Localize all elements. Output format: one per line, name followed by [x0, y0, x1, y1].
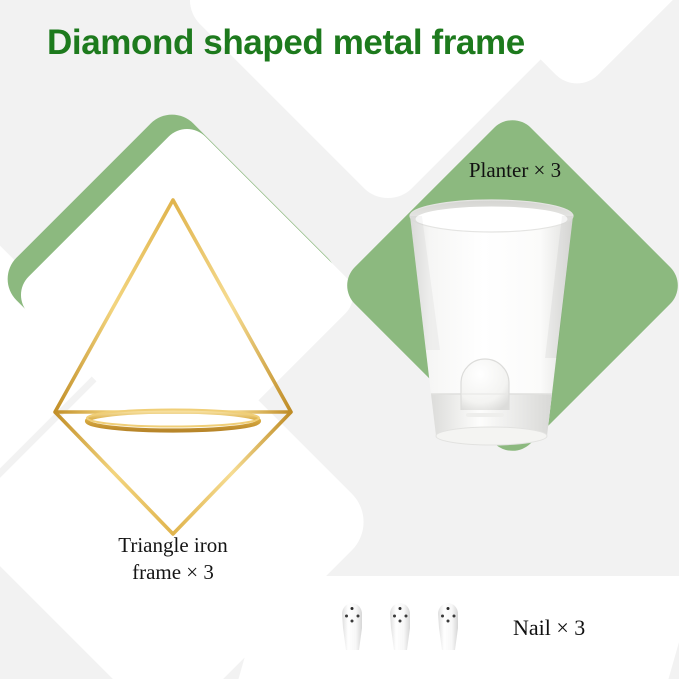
product-feature-image: Diamond shaped metal frame Tri [0, 0, 679, 679]
wall-nail-anchor-3 [438, 603, 458, 650]
triangle-iron-frame-icon [48, 190, 298, 540]
wall-nail-anchor-group [336, 600, 481, 654]
page-title: Diamond shaped metal frame [47, 23, 525, 63]
planter-caption: Planter × 3 [400, 158, 630, 183]
wall-nail-anchor-1 [342, 603, 362, 650]
nail-caption: Nail × 3 [513, 615, 585, 641]
frame-caption: Triangle iron frame × 3 [58, 532, 288, 586]
white-planter-pot-icon [404, 198, 579, 450]
frame-caption-line-1: Triangle iron [58, 532, 288, 559]
frame-caption-line-2: frame × 3 [58, 559, 288, 586]
wall-nail-anchor-2 [390, 603, 410, 650]
